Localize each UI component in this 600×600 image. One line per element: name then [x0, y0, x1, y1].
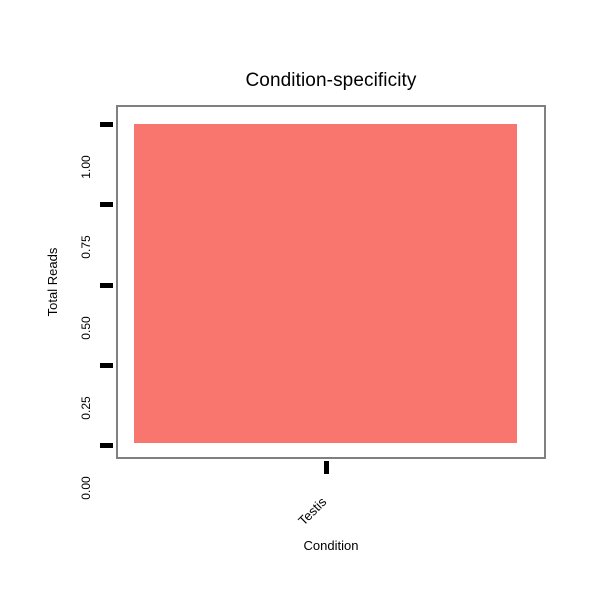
y-tick-label-1: 0.25: [80, 365, 92, 451]
chart-figure: Condition-specificity Total Reads 0.00 0…: [0, 0, 600, 600]
bar-testis: [134, 124, 517, 443]
y-tick-label-3: 0.75: [80, 204, 92, 290]
plot-panel: [116, 105, 546, 459]
y-tick-mark-4: [100, 122, 113, 127]
y-tick-label-2: 0.50: [80, 285, 92, 371]
y-tick-mark-1: [100, 363, 113, 368]
y-tick-label-4: 1.00: [80, 124, 92, 210]
x-tick-mark-0: [324, 461, 329, 474]
y-axis-title: Total Reads: [46, 248, 59, 317]
y-tick-mark-3: [100, 202, 113, 207]
x-axis-title: Condition: [116, 538, 546, 553]
y-tick-mark-0: [100, 443, 113, 448]
y-tick-label-0: 0.00: [80, 445, 92, 531]
plot-area: [118, 107, 544, 457]
y-tick-mark-2: [100, 283, 113, 288]
chart-title: Condition-specificity: [116, 70, 546, 92]
